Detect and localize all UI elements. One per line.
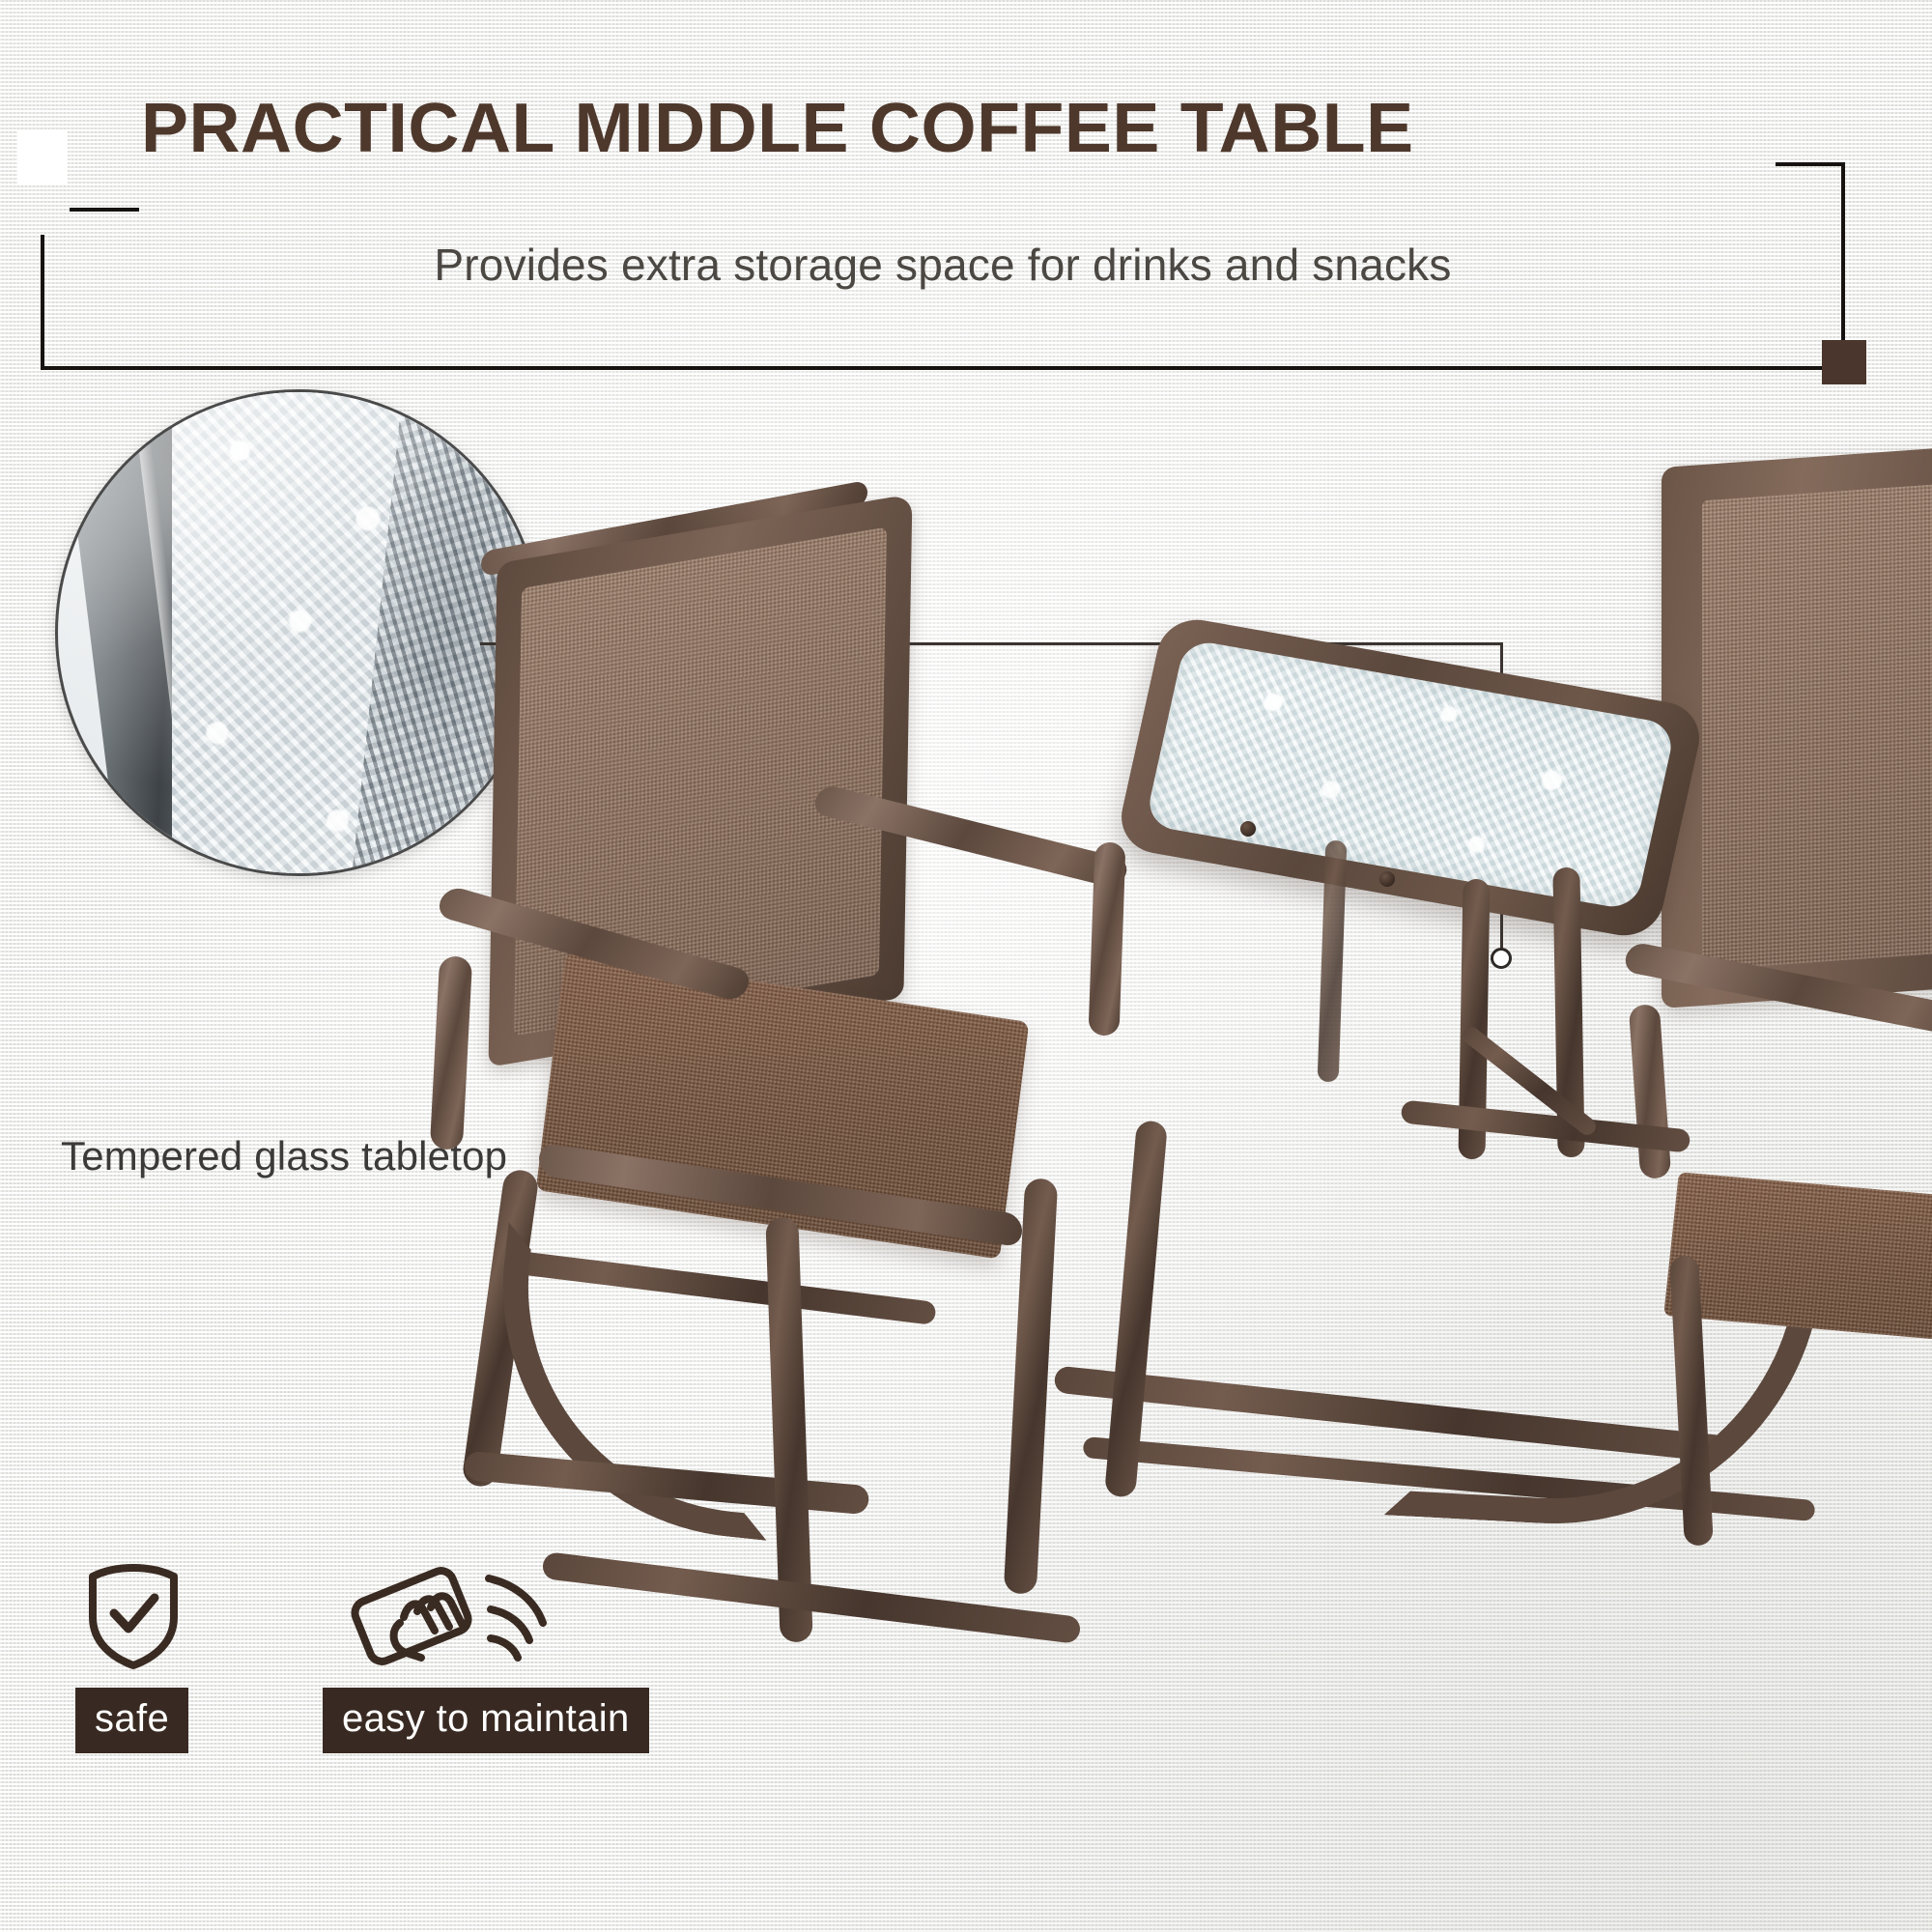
wiping-hand-cloth-icon <box>346 1563 672 1684</box>
corner-square-white-marker <box>17 130 68 185</box>
table-base-crossbar <box>1401 1099 1691 1152</box>
feature-label-safe: safe <box>75 1688 188 1753</box>
feature-badge-group: safe easy to maintain <box>75 1557 810 1808</box>
feature-label-easy-to-maintain: easy to maintain <box>323 1688 649 1753</box>
page-subtitle: Provides extra storage space for drinks … <box>41 239 1845 291</box>
infographic-canvas: PRACTICAL MIDDLE COFFEE TABLE Provides e… <box>0 0 1932 1932</box>
page-title: PRACTICAL MIDDLE COFFEE TABLE <box>141 94 1816 163</box>
table-bolt-icon <box>1379 871 1395 887</box>
patio-glider-chair-left <box>425 502 1179 1642</box>
feature-badge-safe: safe <box>75 1557 188 1753</box>
feature-badge-easy-to-maintain: easy to maintain <box>323 1557 649 1753</box>
chair-left-arm-post-far <box>1089 842 1126 1037</box>
chair-left-arm-post-near <box>430 955 472 1151</box>
table-bolt-icon <box>1240 821 1256 837</box>
chair-left-leg-right <box>1104 1120 1168 1497</box>
table-tempered-glass-top <box>1145 639 1677 911</box>
frame-line-bottom <box>41 366 1845 370</box>
shield-check-icon <box>83 1557 196 1676</box>
frame-line-top-left <box>70 208 139 212</box>
corner-square-brown-marker <box>1822 340 1866 384</box>
middle-glass-coffee-table <box>1140 657 1739 1275</box>
